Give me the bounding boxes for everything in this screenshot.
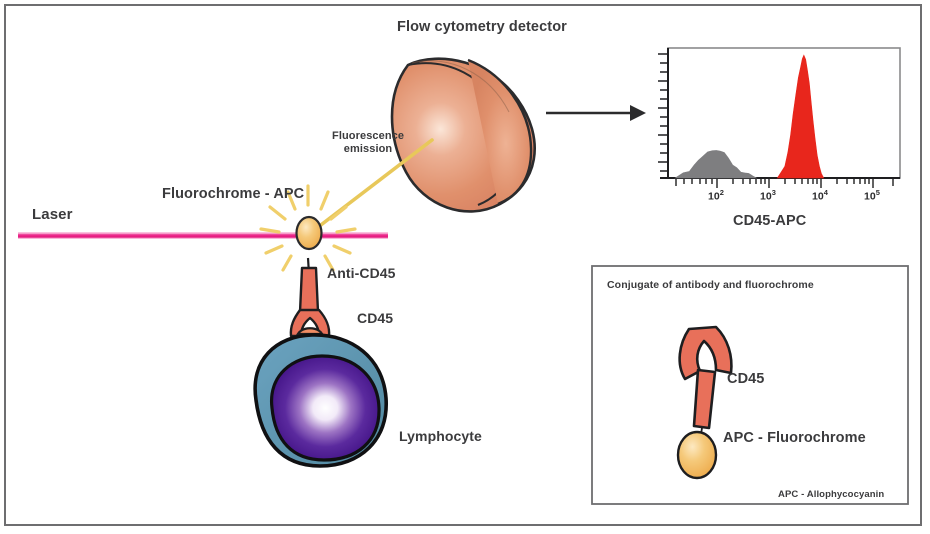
laser-label: Laser — [32, 206, 73, 223]
x-tick-label-2: 104 — [812, 188, 828, 203]
x-tick-label-1: 103 — [760, 188, 776, 203]
conjugate-inset-panel — [0, 0, 930, 534]
figure-canvas: Flow cytometry detector Fluorochrome - A… — [0, 0, 930, 534]
detector-title: Flow cytometry detector — [397, 19, 567, 35]
inset-apc-label: APC - Fluorochrome — [723, 430, 866, 446]
chart-x-axis-label: CD45-APC — [733, 213, 806, 229]
cd45-label: CD45 — [357, 310, 393, 326]
anti-cd45-label: Anti-CD45 — [327, 265, 396, 281]
inset-title: Conjugate of antibody and fluorochrome — [607, 279, 814, 291]
inset-cd45-label: CD45 — [727, 371, 764, 387]
fluorochrome-label: Fluorochrome - APC — [162, 186, 304, 202]
x-tick-label-0: 102 — [708, 188, 724, 203]
lymphocyte-label: Lymphocyte — [399, 428, 482, 444]
x-tick-label-3: 105 — [864, 188, 880, 203]
fluorescence-emission-label: Fluorescence emission — [332, 130, 404, 155]
inset-footnote: APC - Allophycocyanin — [778, 489, 884, 500]
